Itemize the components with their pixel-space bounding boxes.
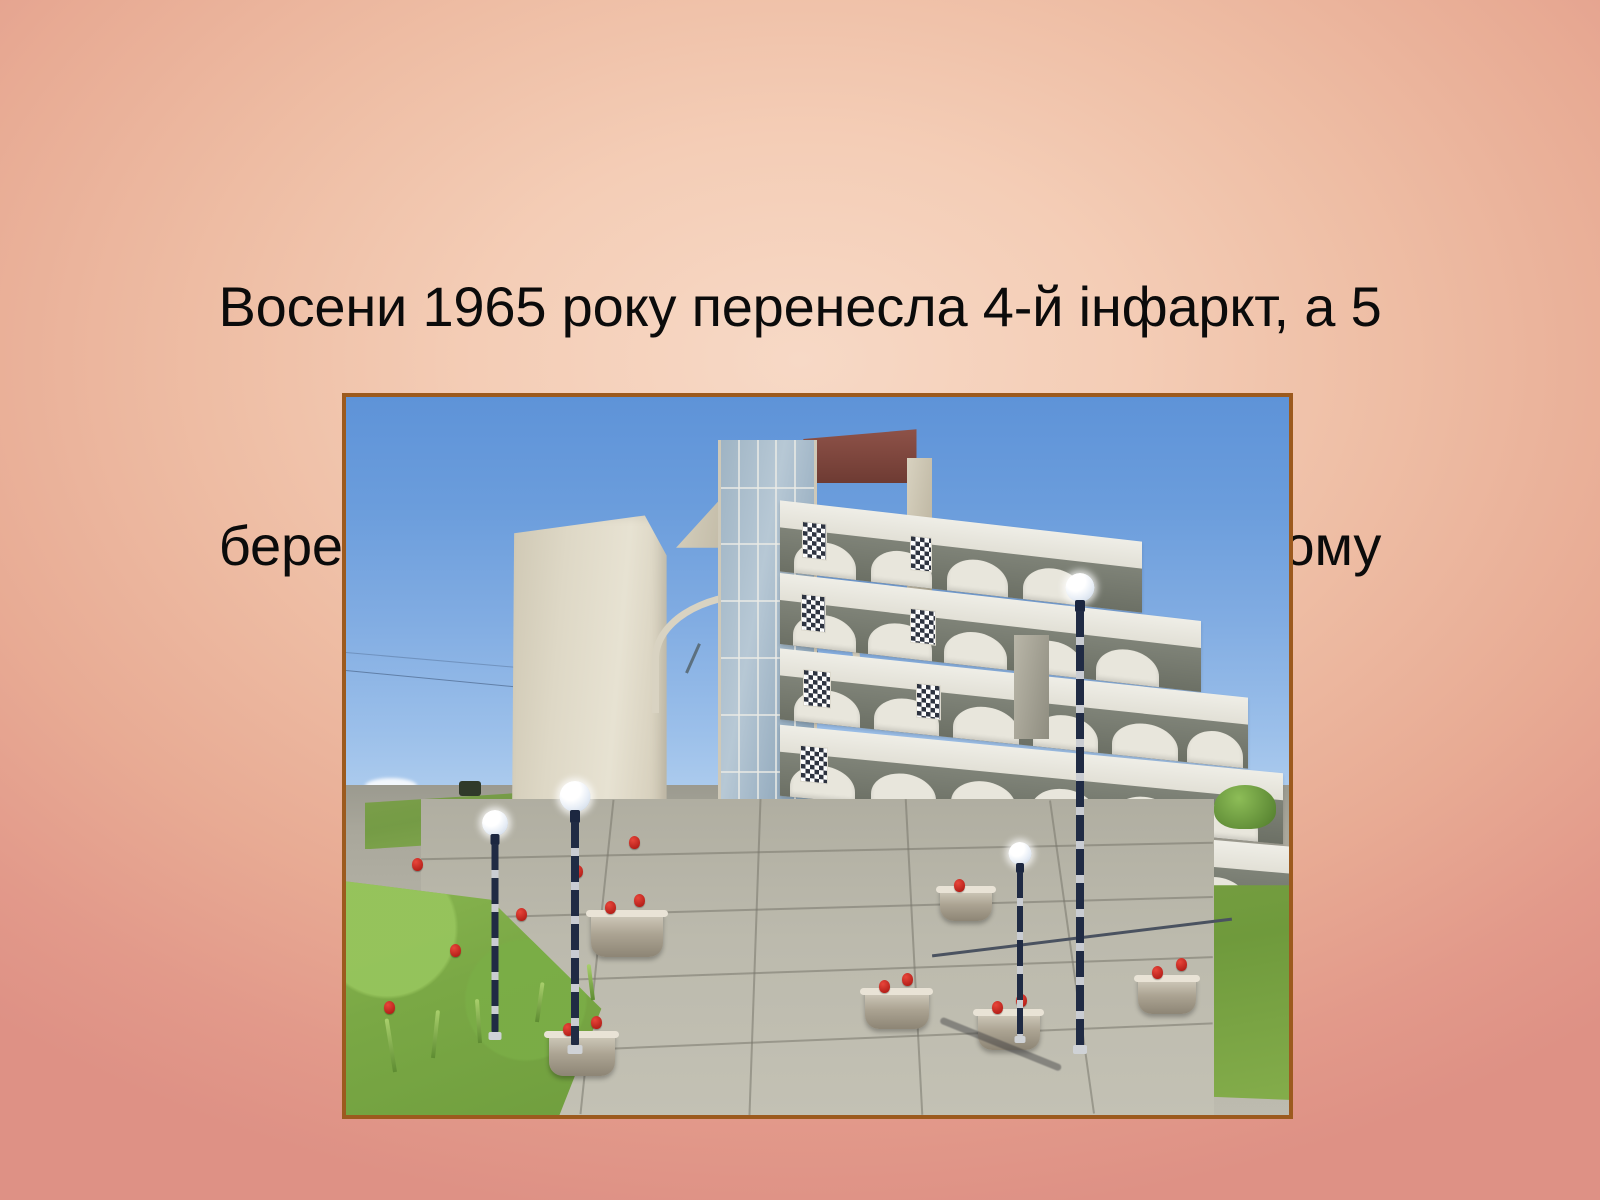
planter: [591, 911, 663, 957]
tulip-flower: [1152, 966, 1163, 979]
tulip-flower: [902, 973, 913, 986]
tulip-flower: [412, 858, 423, 871]
tulip-flower: [634, 894, 645, 907]
tulip-flower: [450, 944, 461, 957]
planter: [940, 887, 992, 921]
tulip-flower: [992, 1001, 1003, 1014]
tulip-flower: [879, 980, 890, 993]
photo-frame: [342, 393, 1293, 1119]
planter: [1138, 976, 1196, 1014]
lamp-post: [1006, 842, 1034, 1043]
title-line-1: Восени 1965 року перенесла 4-й інфаркт, …: [80, 267, 1520, 347]
wing-end-block: [1014, 635, 1049, 739]
tulip-flower: [384, 1001, 395, 1014]
tulip-flower: [605, 901, 616, 914]
lamp-post: [1063, 573, 1097, 1054]
tulip-flower: [1176, 958, 1187, 971]
slide-root: Восени 1965 року перенесла 4-й інфаркт, …: [0, 0, 1600, 1200]
tree: [1214, 785, 1276, 829]
planter: [865, 989, 929, 1029]
gate-sculpture: [459, 781, 481, 796]
tulip-flower: [629, 836, 640, 849]
tulip-flower: [591, 1016, 602, 1029]
lamp-post: [558, 781, 592, 1054]
tulip-flower: [516, 908, 527, 921]
lamp-post: [480, 810, 510, 1040]
sanatorium-photo: [346, 397, 1289, 1115]
